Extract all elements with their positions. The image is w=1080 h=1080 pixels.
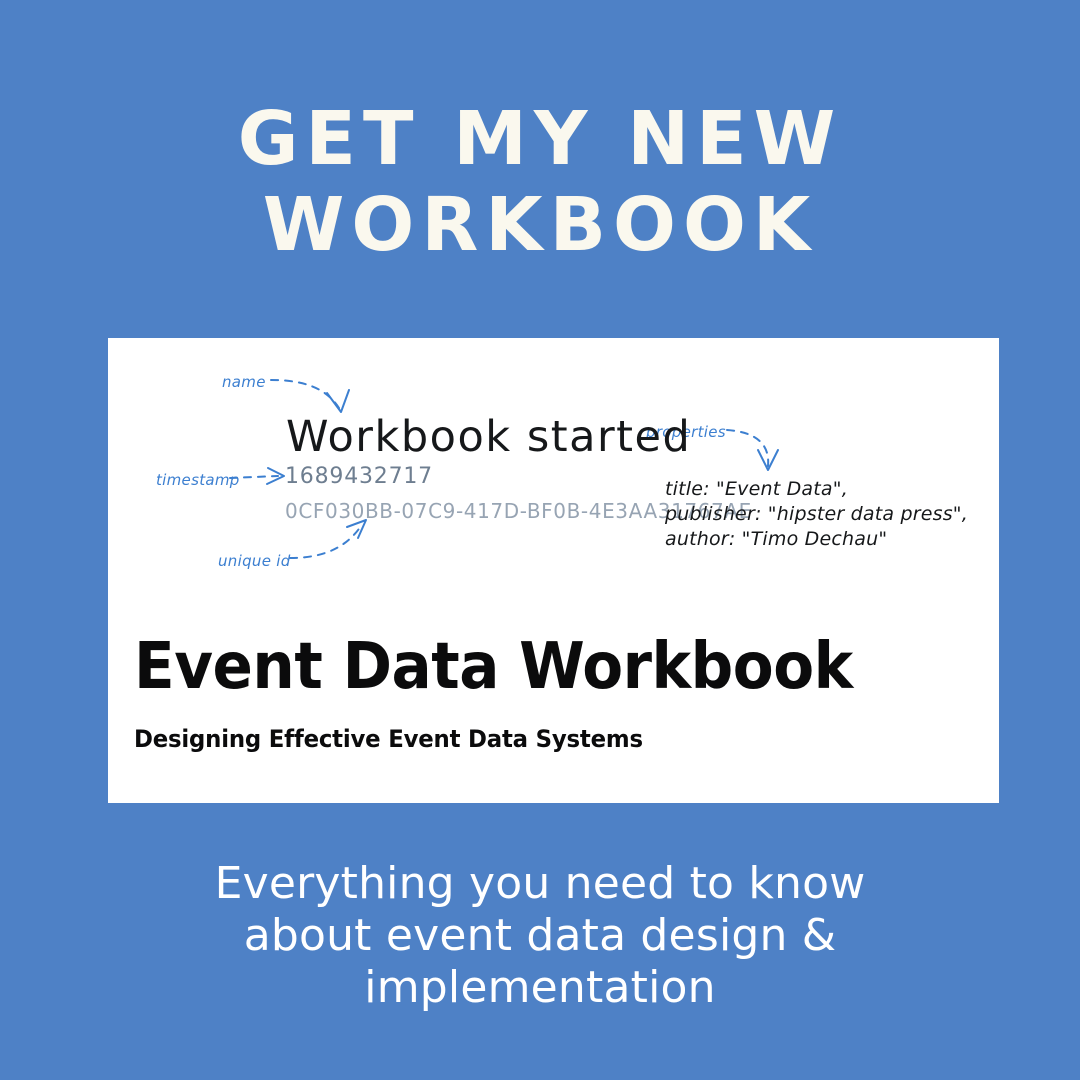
book-cover-card: name timestamp unique id properties Work… [108, 338, 999, 803]
tagline-line-1: Everything you need to know [0, 858, 1080, 910]
property-line-title: title: "Event Data", [665, 477, 968, 502]
properties-arrow-icon [727, 430, 768, 466]
book-subtitle: Designing Effective Event Data Systems [134, 725, 643, 753]
headline-line-1: GET MY NEW [0, 96, 1080, 182]
book-title: Event Data Workbook [134, 635, 853, 699]
name-arrow-head-icon [327, 390, 349, 412]
headline-line-2: WORKBOOK [0, 182, 1080, 268]
tagline-line-2: about event data design & [0, 910, 1080, 962]
event-name-value: Workbook started [286, 412, 691, 462]
annotation-label-timestamp: timestamp [156, 471, 240, 489]
unique-id-arrow-icon [290, 526, 361, 558]
property-line-publisher: publisher: "hipster data press", [665, 502, 968, 527]
page-title: GET MY NEW WORKBOOK [0, 96, 1080, 268]
event-timestamp-value: 1689432717 [285, 464, 433, 489]
property-line-author: author: "Timo Dechau" [665, 527, 968, 552]
event-properties-block: title: "Event Data", publisher: "hipster… [665, 477, 968, 552]
event-schema-sketch: name timestamp unique id properties Work… [108, 338, 999, 623]
annotation-label-unique-id: unique id [218, 552, 291, 570]
tagline: Everything you need to know about event … [0, 858, 1080, 1014]
tagline-line-3: implementation [0, 962, 1080, 1014]
annotation-label-name: name [222, 373, 266, 391]
promo-poster: GET MY NEW WORKBOOK [0, 0, 1080, 1080]
